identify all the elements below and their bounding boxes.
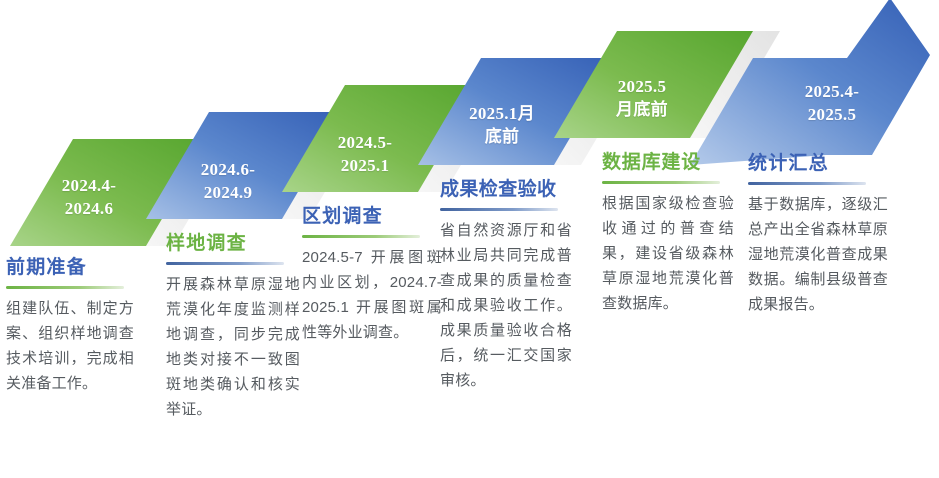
- step-text-4: 省自然资源厅和省林业局共同完成普查成果的质量检查和成果验收工作。成果质量验收合格…: [440, 218, 572, 393]
- step-block-5: 数据库建设 根据国家级检查验收通过的普查结果，建设省级森林草原湿地荒漠化普查数据…: [602, 151, 734, 316]
- roadmap-graphic: 2024.4- 2024.6 2024.6- 2024.9 2024.5- 20…: [0, 0, 939, 478]
- step-title-1: 前期准备: [6, 256, 134, 280]
- step-rule-1: [6, 286, 124, 289]
- step-date-2: 2024.6- 2024.9: [178, 158, 278, 204]
- step-rule-3: [302, 235, 420, 238]
- step-text-3: 2024.5-7 开展图斑内业区划，2024.7-2025.1 开展图斑属性等外…: [302, 245, 442, 345]
- step-title-3: 区划调查: [302, 205, 442, 229]
- step-text-2: 开展森林草原湿地荒漠化年度监测样地调查，同步完成地类对接不一致图斑地类确认和核实…: [166, 272, 300, 422]
- step-text-1: 组建队伍、制定方案、组织样地调查技术培训，完成相关准备工作。: [6, 296, 134, 396]
- step-date-4: 2025.1月 底前: [452, 102, 552, 148]
- step-block-2: 样地调查 开展森林草原湿地荒漠化年度监测样地调查，同步完成地类对接不一致图斑地类…: [166, 232, 300, 422]
- step-text-6: 基于数据库，逐级汇总产出全省森林草原湿地荒漠化普查成果数据。编制县级普查成果报告…: [748, 192, 888, 317]
- step-title-4: 成果检查验收: [440, 178, 572, 202]
- step-rule-2: [166, 262, 284, 265]
- step-block-3: 区划调查 2024.5-7 开展图斑内业区划，2024.7-2025.1 开展图…: [302, 205, 442, 345]
- step-title-5: 数据库建设: [602, 151, 734, 175]
- step-title-6: 统计汇总: [748, 152, 888, 176]
- step-rule-5: [602, 181, 720, 184]
- step-block-6: 统计汇总 基于数据库，逐级汇总产出全省森林草原湿地荒漠化普查成果数据。编制县级普…: [748, 152, 888, 317]
- step-date-6: 2025.4- 2025.5: [782, 80, 882, 126]
- step-date-1: 2024.4- 2024.6: [39, 174, 139, 220]
- step-rule-6: [748, 182, 866, 185]
- step-title-2: 样地调查: [166, 232, 300, 256]
- step-block-4: 成果检查验收 省自然资源厅和省林业局共同完成普查成果的质量检查和成果验收工作。成…: [440, 178, 572, 393]
- step-rule-4: [440, 208, 558, 211]
- step-date-5: 2025.5 月底前: [592, 75, 692, 121]
- step-date-3: 2024.5- 2025.1: [315, 131, 415, 177]
- step-text-5: 根据国家级检查验收通过的普查结果，建设省级森林草原湿地荒漠化普查数据库。: [602, 191, 734, 316]
- step-block-1: 前期准备 组建队伍、制定方案、组织样地调查技术培训，完成相关准备工作。: [6, 256, 134, 396]
